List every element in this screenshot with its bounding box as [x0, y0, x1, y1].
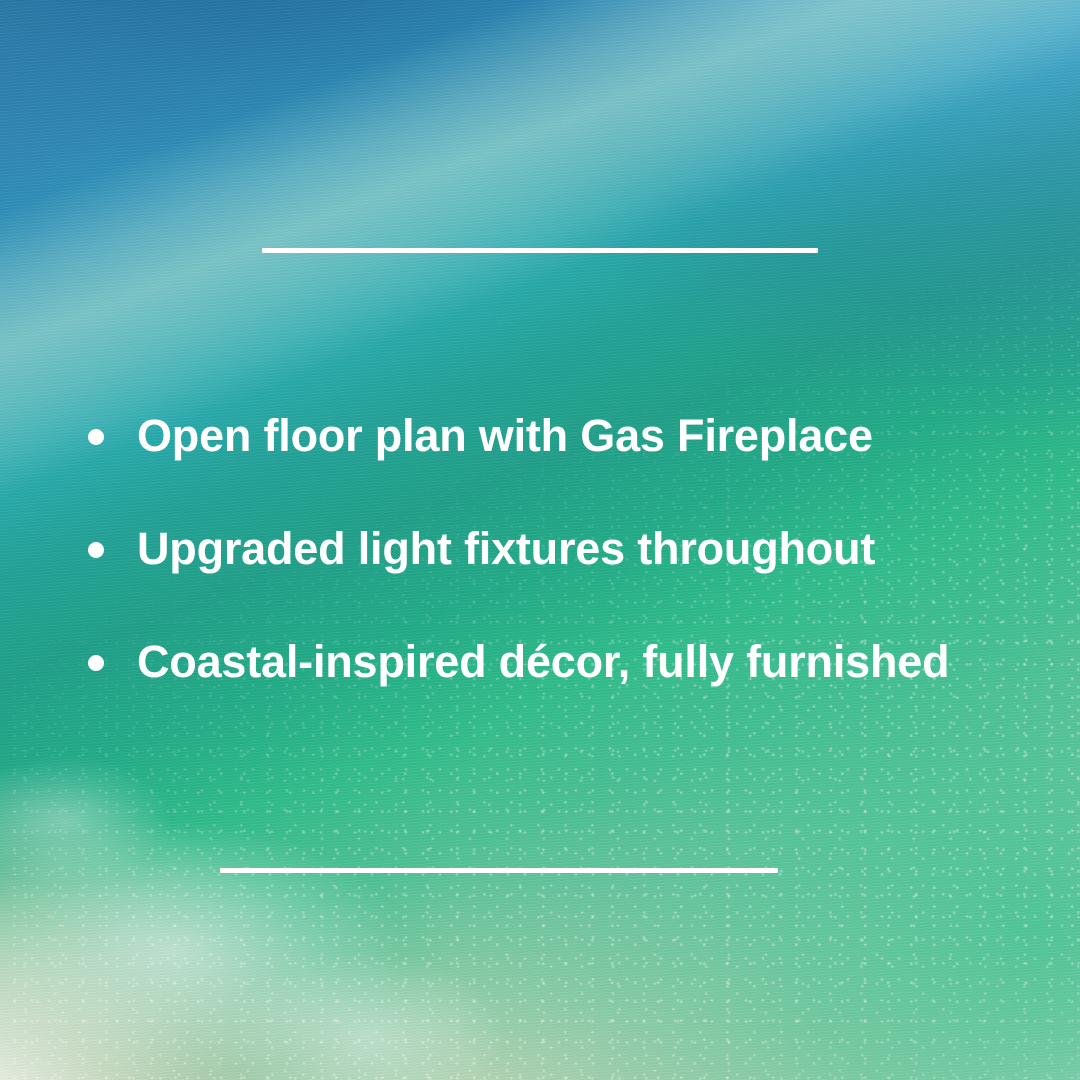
list-item: Upgraded light fixtures throughout [88, 493, 1068, 606]
list-item: Open floor plan with Gas Fireplace [88, 380, 1068, 493]
overlay-content: Open floor plan with Gas Fireplace Upgra… [0, 0, 1080, 1080]
bottom-divider-rule [220, 868, 778, 873]
feature-label: Upgraded light fixtures throughout [137, 525, 875, 574]
bullet-dot-icon [88, 542, 104, 558]
feature-label: Open floor plan with Gas Fireplace [137, 412, 873, 461]
bullet-dot-icon [88, 655, 104, 671]
beach-feature-graphic: Open floor plan with Gas Fireplace Upgra… [0, 0, 1080, 1080]
feature-label: Coastal-inspired décor, fully furnished [137, 638, 949, 687]
feature-list: Open floor plan with Gas Fireplace Upgra… [88, 380, 1068, 719]
top-divider-rule [262, 248, 818, 253]
list-item: Coastal-inspired décor, fully furnished [88, 606, 1068, 719]
bullet-dot-icon [88, 429, 104, 445]
